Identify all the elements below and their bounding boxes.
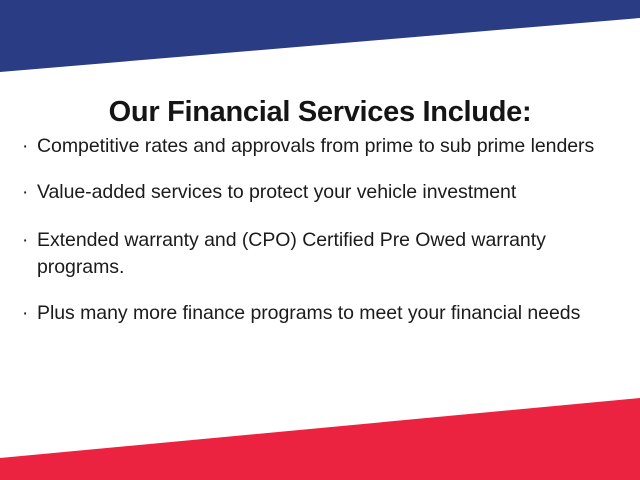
bullet-dot-icon: · bbox=[22, 300, 37, 327]
top-blue-diagonal-band bbox=[0, 0, 640, 72]
financial-services-list: · Competitive rates and approvals from p… bbox=[22, 133, 622, 344]
list-item-label: Extended warranty and (CPO) Certified Pr… bbox=[37, 227, 622, 281]
list-item: · Competitive rates and approvals from p… bbox=[22, 133, 622, 160]
bullet-dot-icon: · bbox=[22, 179, 37, 206]
list-item: · Value-added services to protect your v… bbox=[22, 179, 622, 206]
list-item-label: Competitive rates and approvals from pri… bbox=[37, 133, 622, 160]
slide-canvas: Our Financial Services Include: · Compet… bbox=[0, 0, 640, 480]
bullet-dot-icon: · bbox=[22, 133, 37, 160]
list-item-label: Plus many more finance programs to meet … bbox=[37, 300, 622, 327]
list-item: · Plus many more finance programs to mee… bbox=[22, 300, 622, 327]
list-item: · Extended warranty and (CPO) Certified … bbox=[22, 227, 622, 281]
bottom-red-diagonal-band bbox=[0, 398, 640, 480]
bullet-dot-icon: · bbox=[22, 227, 37, 254]
page-title: Our Financial Services Include: bbox=[0, 95, 640, 129]
list-item-label: Value-added services to protect your veh… bbox=[37, 179, 622, 206]
